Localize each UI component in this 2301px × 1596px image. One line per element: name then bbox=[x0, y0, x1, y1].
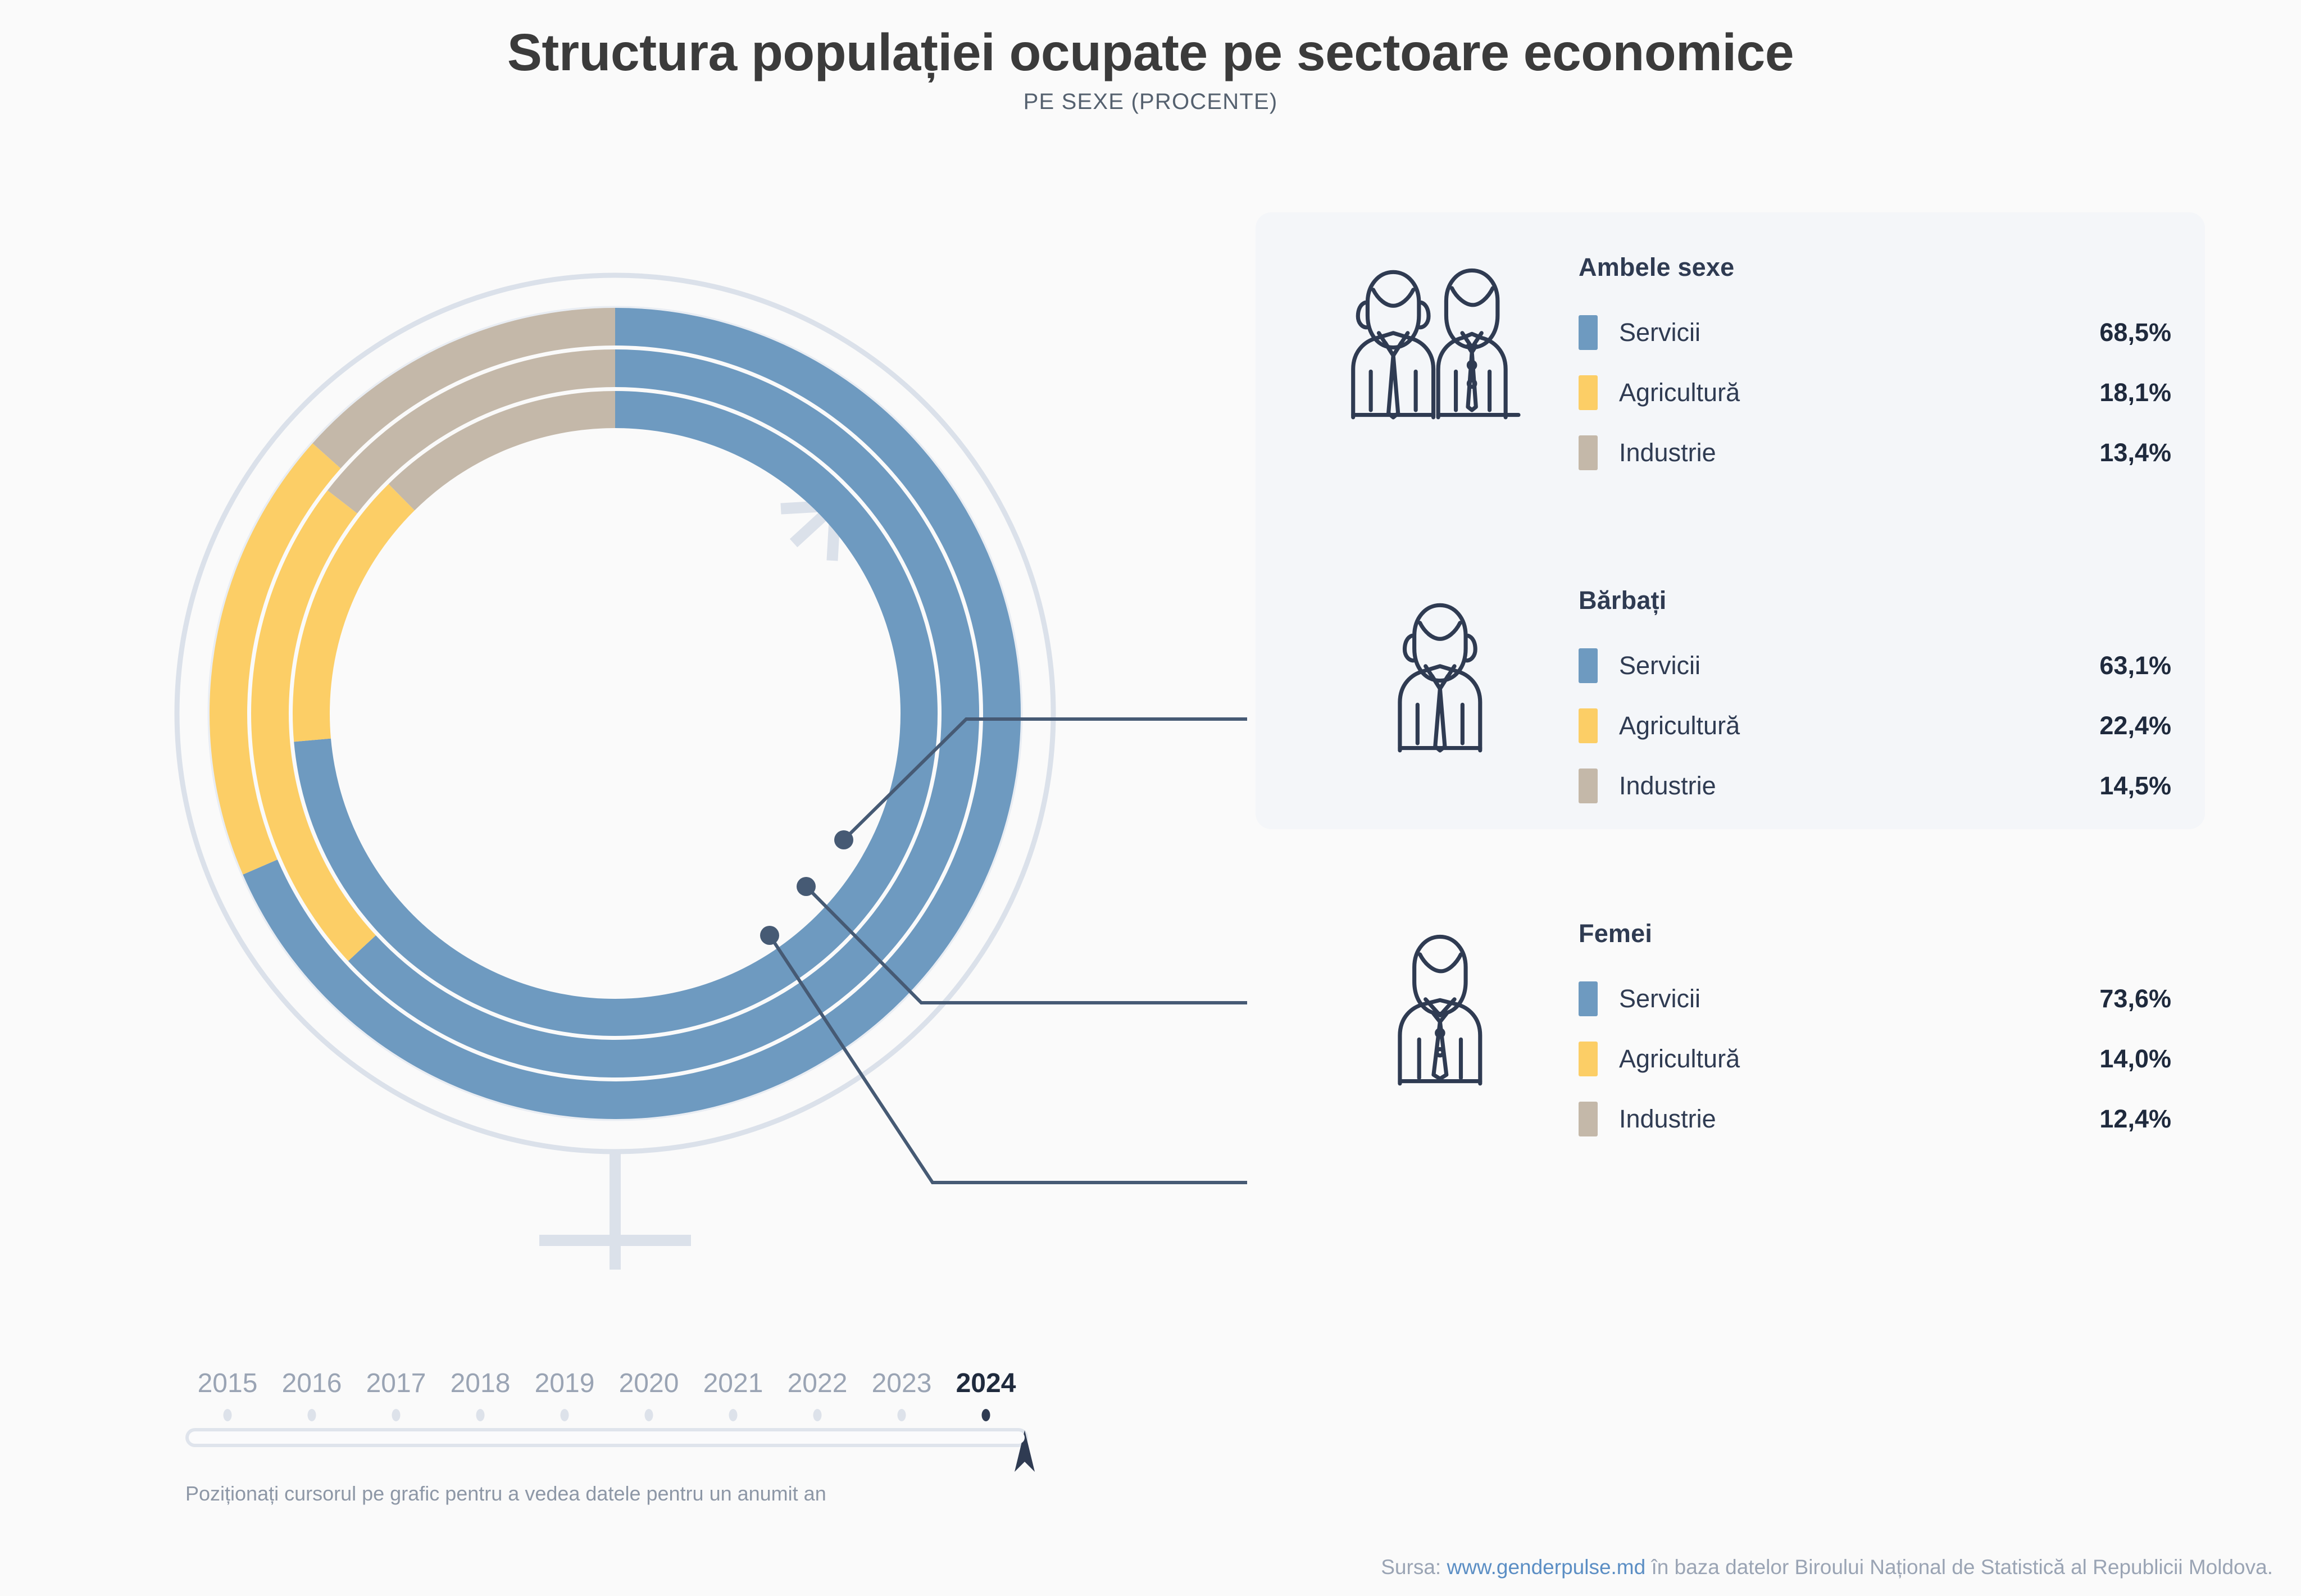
source-link[interactable]: www.genderpulse.md bbox=[1447, 1556, 1645, 1579]
legend-row[interactable]: Industrie 13,4% bbox=[1579, 431, 2171, 474]
year-tick-2021[interactable] bbox=[729, 1409, 738, 1421]
legend-row[interactable]: Agricultură 14,0% bbox=[1579, 1038, 2171, 1080]
swatch-industrie bbox=[1579, 769, 1598, 803]
year-tick-2024[interactable] bbox=[982, 1409, 990, 1421]
legend-body: Ambele sexe Servicii 68,5% Agricultură 1… bbox=[1579, 253, 2171, 492]
year-label-2017[interactable]: 2017 bbox=[354, 1368, 438, 1399]
legend-label: Agricultură bbox=[1619, 1044, 2099, 1074]
year-label-2020[interactable]: 2020 bbox=[607, 1368, 691, 1399]
legend-label: Servicii bbox=[1619, 651, 2099, 680]
source-suffix: în baza datelor Biroului Național de Sta… bbox=[1645, 1556, 2273, 1579]
legend-value: 14,5% bbox=[2099, 771, 2171, 801]
legend-body: Bărbați Servicii 63,1% Agricultură 22,4%… bbox=[1579, 586, 2171, 825]
legend-row[interactable]: Agricultură 22,4% bbox=[1579, 704, 2171, 747]
year-slider-handle[interactable] bbox=[1012, 1427, 1037, 1475]
legend-row[interactable]: Servicii 73,6% bbox=[1579, 977, 2171, 1020]
year-label-2015[interactable]: 2015 bbox=[185, 1368, 270, 1399]
legend-row[interactable]: Servicii 68,5% bbox=[1579, 311, 2171, 354]
year-label-2018[interactable]: 2018 bbox=[438, 1368, 522, 1399]
swatch-industrie bbox=[1579, 1102, 1598, 1136]
header: Structura populației ocupate pe sectoare… bbox=[0, 0, 2301, 115]
legend-row[interactable]: Agricultură 18,1% bbox=[1579, 371, 2171, 414]
source-prefix: Sursa: bbox=[1381, 1556, 1447, 1579]
legend-panel: Ambele sexe Servicii 68,5% Agricultură 1… bbox=[1256, 212, 2205, 829]
donut-rings[interactable] bbox=[210, 308, 1021, 1119]
legend-body: Femei Servicii 73,6% Agricultură 14,0% I… bbox=[1579, 919, 2171, 1158]
legend-label: Industrie bbox=[1619, 771, 2099, 801]
year-label-2016[interactable]: 2016 bbox=[270, 1368, 354, 1399]
male-icon bbox=[1384, 586, 1504, 754]
year-label-2024[interactable]: 2024 bbox=[944, 1368, 1028, 1399]
year-timeline[interactable]: 2015201620172018201920202021202220232024… bbox=[185, 1368, 1039, 1506]
legend-group-title: Femei bbox=[1579, 919, 2171, 948]
year-tick-2015[interactable] bbox=[224, 1409, 232, 1421]
swatch-agricultura bbox=[1579, 708, 1598, 743]
year-tick-2018[interactable] bbox=[476, 1409, 485, 1421]
legend-value: 68,5% bbox=[2099, 318, 2171, 347]
swatch-agricultura bbox=[1579, 375, 1598, 410]
legend-value: 63,1% bbox=[2099, 651, 2171, 680]
swatch-agricultura bbox=[1579, 1042, 1598, 1076]
legend-label: Agricultură bbox=[1619, 711, 2099, 740]
year-tick-2019[interactable] bbox=[561, 1409, 569, 1421]
female-icon bbox=[1384, 919, 1504, 1088]
legend-row[interactable]: Industrie 12,4% bbox=[1579, 1098, 2171, 1140]
year-label-2022[interactable]: 2022 bbox=[775, 1368, 860, 1399]
year-tick-row bbox=[185, 1406, 1028, 1425]
legend-row[interactable]: Industrie 14,5% bbox=[1579, 765, 2171, 807]
year-label-row: 2015201620172018201920202021202220232024 bbox=[185, 1368, 1028, 1399]
legend-value: 13,4% bbox=[2099, 438, 2171, 467]
swatch-servicii bbox=[1579, 981, 1598, 1016]
legend-label: Industrie bbox=[1619, 1104, 2099, 1134]
legend-label: Industrie bbox=[1619, 438, 2099, 467]
legend-row[interactable]: Servicii 63,1% bbox=[1579, 644, 2171, 687]
legend-value: 18,1% bbox=[2099, 378, 2171, 407]
legend-label: Servicii bbox=[1619, 984, 2099, 1013]
year-tick-2022[interactable] bbox=[813, 1409, 822, 1421]
swatch-industrie bbox=[1579, 435, 1598, 470]
both-sexes-icon bbox=[1339, 253, 1541, 421]
year-tick-2020[interactable] bbox=[645, 1409, 653, 1421]
legend-value: 12,4% bbox=[2099, 1104, 2171, 1134]
legend-value: 14,0% bbox=[2099, 1044, 2171, 1074]
swatch-servicii bbox=[1579, 648, 1598, 683]
page-subtitle: PE SEXE (PROCENTE) bbox=[0, 80, 2301, 115]
legend-label: Servicii bbox=[1619, 318, 2099, 347]
donut-chart-area[interactable] bbox=[0, 202, 1247, 1270]
year-tick-2016[interactable] bbox=[308, 1409, 316, 1421]
page-title: Structura populației ocupate pe sectoare… bbox=[0, 0, 2301, 80]
multi-ring-donut-chart[interactable] bbox=[0, 202, 1247, 1270]
source-footer: Sursa: www.genderpulse.md în baza datelo… bbox=[1381, 1556, 2273, 1579]
year-label-2023[interactable]: 2023 bbox=[860, 1368, 944, 1399]
timeline-hint: Poziționați cursorul pe grafic pentru a … bbox=[185, 1482, 1039, 1506]
legend-group-title: Ambele sexe bbox=[1579, 253, 2171, 282]
legend-group-title: Bărbați bbox=[1579, 586, 2171, 615]
year-label-2021[interactable]: 2021 bbox=[691, 1368, 775, 1399]
year-tick-2017[interactable] bbox=[392, 1409, 401, 1421]
swatch-servicii bbox=[1579, 315, 1598, 350]
year-slider-track[interactable] bbox=[185, 1428, 1028, 1447]
year-tick-2023[interactable] bbox=[898, 1409, 906, 1421]
legend-label: Agricultură bbox=[1619, 378, 2099, 407]
year-label-2019[interactable]: 2019 bbox=[522, 1368, 607, 1399]
legend-value: 22,4% bbox=[2099, 711, 2171, 740]
legend-value: 73,6% bbox=[2099, 984, 2171, 1013]
